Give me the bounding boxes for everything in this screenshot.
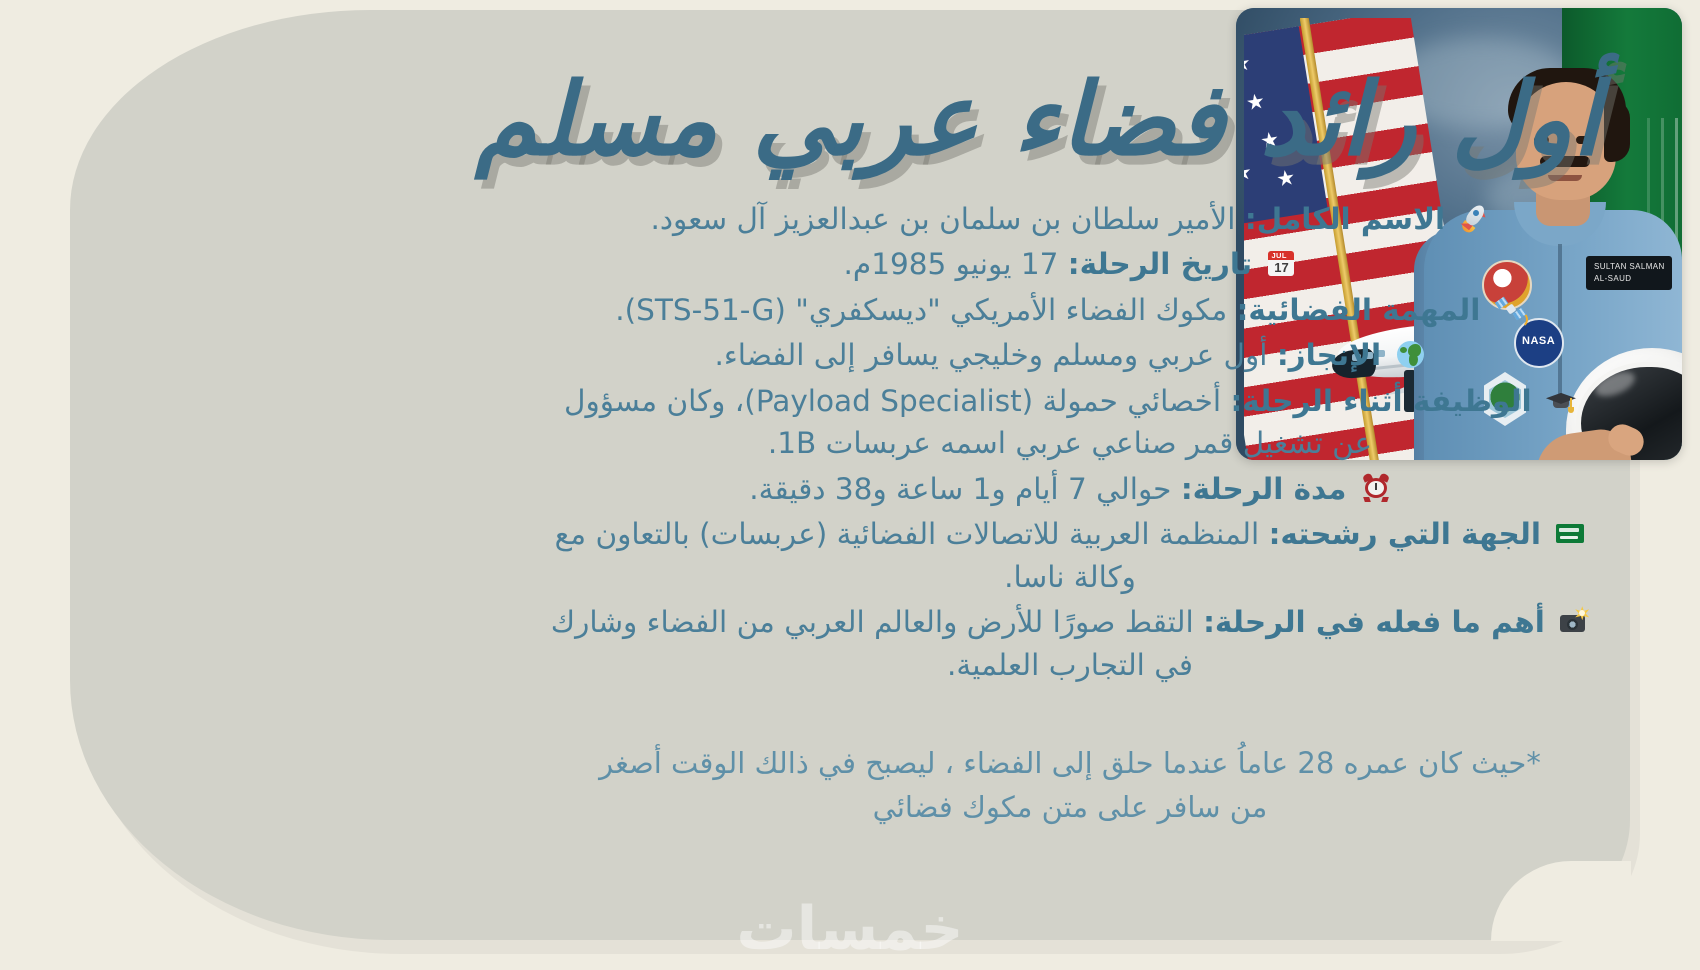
fact-value: التقط صورًا للأرض والعالم العربي من الفض… bbox=[551, 605, 1194, 681]
fact-row-mission: المهمة الفضائية: مكوك الفضاء الأمريكي "د… bbox=[550, 289, 1590, 331]
page-title: أول رائد فضاء عربي مسلم bbox=[540, 62, 1600, 177]
fact-value: المنظمة العربية للاتصالات الفضائية (عربس… bbox=[555, 517, 1260, 593]
fact-label: الجهة التي رشحته: bbox=[1269, 517, 1541, 551]
panel-corner-cut-bottom-right bbox=[1491, 861, 1631, 941]
fact-row-flight-date: JUL 17 تاريخ الرحلة: 17 يونيو 1985م. bbox=[550, 243, 1590, 285]
astronaut-name-tag: SULTAN SALMAN AL-SAUD bbox=[1586, 256, 1672, 290]
saudi-flag-icon bbox=[1555, 518, 1585, 548]
satellite-icon bbox=[1495, 294, 1525, 324]
fact-label: المهمة الفضائية: bbox=[1237, 293, 1481, 327]
fact-row-highlights: أهم ما فعله في الرحلة: التقط صورًا للأرض… bbox=[550, 601, 1590, 686]
facts-list: الاسم الكامل: الأمير سلطان بن سلمان بن ع… bbox=[550, 198, 1590, 689]
fact-value: أول عربي ومسلم وخليجي يسافر إلى الفضاء. bbox=[714, 338, 1267, 372]
fact-value: مكوك الفضاء الأمريكي "ديسكفري" (STS-51-G… bbox=[615, 293, 1227, 327]
astronaut-hair-side bbox=[1604, 100, 1630, 162]
graduation-cap-icon bbox=[1546, 385, 1576, 415]
fact-row-nominating-body: الجهة التي رشحته: المنظمة العربية للاتصا… bbox=[550, 513, 1590, 598]
camera-flash-icon bbox=[1559, 606, 1589, 636]
fact-row-duration: مدة الرحلة: حوالي 7 أيام و1 ساعة و38 دقي… bbox=[550, 468, 1590, 510]
footnote: *حيث كان عمره 28 عاماُ عندما حلق إلى الف… bbox=[590, 742, 1550, 829]
fact-value: الأمير سلطان بن سلمان بن عبدالعزيز آل سع… bbox=[650, 202, 1235, 236]
fact-row-full-name: الاسم الكامل: الأمير سلطان بن سلمان بن ع… bbox=[550, 198, 1590, 240]
name-tag-line-1: SULTAN SALMAN bbox=[1594, 262, 1665, 271]
globe-icon bbox=[1396, 339, 1426, 369]
infographic-poster: ★ ★ ★ ★ ★ ★ ★ ★ bbox=[0, 0, 1700, 970]
fact-label: أهم ما فعله في الرحلة: bbox=[1203, 605, 1545, 639]
fact-label: تاريخ الرحلة: bbox=[1068, 247, 1252, 281]
fact-row-role: الوظيفة أثناء الرحلة: أخصائي حمولة (Payl… bbox=[550, 380, 1590, 465]
fact-value: 17 يونيو 1985م. bbox=[844, 247, 1059, 281]
fact-row-achievement: الإنجاز: أول عربي ومسلم وخليجي يسافر إلى… bbox=[550, 334, 1590, 376]
fact-value: حوالي 7 أيام و1 ساعة و38 دقيقة. bbox=[749, 472, 1171, 506]
calendar-icon: JUL 17 bbox=[1266, 248, 1296, 278]
fact-label: الاسم الكامل: bbox=[1245, 202, 1445, 236]
rocket-icon bbox=[1460, 203, 1490, 233]
name-tag-line-2: AL-SAUD bbox=[1594, 274, 1631, 283]
alarm-clock-icon bbox=[1361, 473, 1391, 503]
fact-label: الوظيفة أثناء الرحلة: bbox=[1230, 384, 1531, 418]
fact-label: مدة الرحلة: bbox=[1181, 472, 1347, 506]
fact-label: الإنجاز: bbox=[1277, 338, 1381, 372]
